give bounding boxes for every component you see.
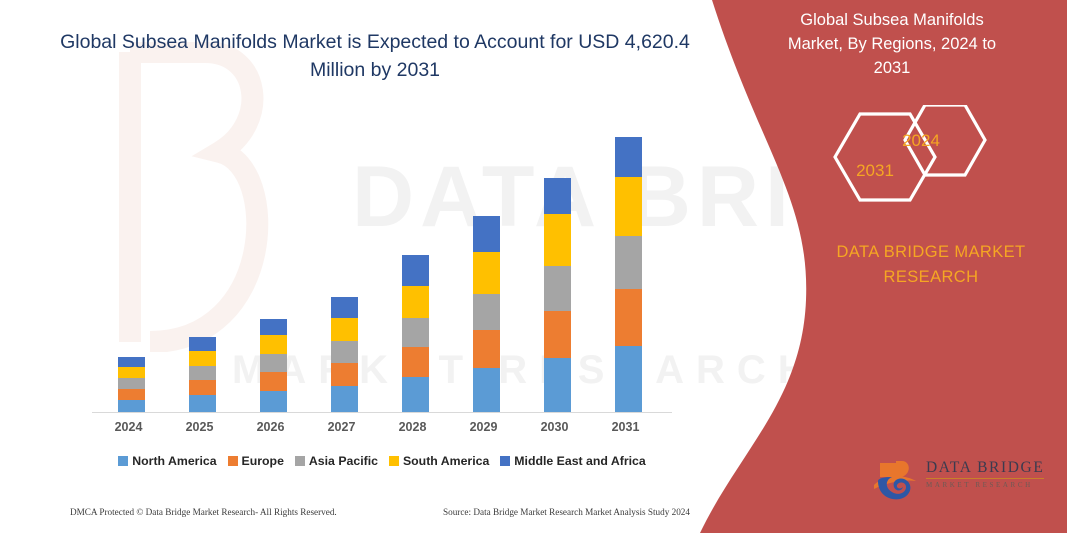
- bar-2029[interactable]: [473, 216, 500, 413]
- company-logo: DATA BRIDGE MARKET RESEARCH: [872, 455, 1052, 507]
- footer: DMCA Protected © Data Bridge Market Rese…: [70, 507, 690, 517]
- legend-label: Europe: [242, 454, 284, 468]
- bar-2031[interactable]: [615, 137, 642, 413]
- bar-segment[interactable]: [473, 330, 500, 368]
- brand-line-1: DATA BRIDGE MARKET: [800, 240, 1062, 265]
- x-axis-label-2025: 2025: [170, 420, 230, 434]
- footer-source: Source: Data Bridge Market Research Mark…: [443, 507, 690, 517]
- logo-mark-icon: [872, 455, 922, 503]
- bar-2025[interactable]: [189, 337, 216, 413]
- x-axis-label-2029: 2029: [454, 420, 514, 434]
- logo-divider: [926, 478, 1044, 479]
- bar-segment[interactable]: [402, 255, 429, 286]
- chart-legend: North AmericaEuropeAsia PacificSouth Ame…: [92, 454, 672, 468]
- bar-segment[interactable]: [473, 252, 500, 294]
- hexagon-end-year-label: 2031: [832, 161, 918, 181]
- bar-segment[interactable]: [118, 389, 145, 400]
- logo-text: DATA BRIDGE MARKET RESEARCH: [926, 459, 1052, 489]
- bar-segment[interactable]: [118, 367, 145, 378]
- x-axis-label-2028: 2028: [383, 420, 443, 434]
- panel-title: Global Subsea Manifolds Market, By Regio…: [772, 8, 1012, 80]
- legend-label: Asia Pacific: [309, 454, 378, 468]
- x-axis-labels: 20242025202620272028202920302031: [92, 420, 672, 444]
- legend-swatch-icon: [500, 456, 510, 466]
- legend-swatch-icon: [389, 456, 399, 466]
- bar-segment[interactable]: [331, 341, 358, 363]
- bar-segment[interactable]: [118, 357, 145, 367]
- bar-segment[interactable]: [473, 368, 500, 413]
- logo-main-text: DATA BRIDGE: [926, 459, 1052, 477]
- bar-segment[interactable]: [615, 137, 642, 177]
- x-axis-label-2026: 2026: [241, 420, 301, 434]
- bar-segment[interactable]: [402, 286, 429, 318]
- bar-segment[interactable]: [402, 347, 429, 377]
- bar-segment[interactable]: [402, 377, 429, 413]
- bar-segment[interactable]: [260, 335, 287, 354]
- bar-segment[interactable]: [331, 363, 358, 386]
- bar-segment[interactable]: [473, 216, 500, 252]
- bar-segment[interactable]: [615, 346, 642, 413]
- legend-item-asia-pacific[interactable]: Asia Pacific: [295, 454, 378, 468]
- footer-copyright: DMCA Protected © Data Bridge Market Rese…: [70, 507, 337, 517]
- bar-segment[interactable]: [331, 297, 358, 318]
- bar-segment[interactable]: [544, 266, 571, 311]
- bar-segment[interactable]: [615, 177, 642, 236]
- bar-segment[interactable]: [402, 318, 429, 347]
- bar-segment[interactable]: [615, 236, 642, 289]
- bar-segment[interactable]: [189, 337, 216, 351]
- bar-2030[interactable]: [544, 178, 571, 413]
- legend-swatch-icon: [228, 456, 238, 466]
- bar-segment[interactable]: [189, 351, 216, 366]
- bar-segment[interactable]: [544, 358, 571, 413]
- bar-segment[interactable]: [260, 372, 287, 391]
- legend-item-north-america[interactable]: North America: [118, 454, 216, 468]
- bar-segment[interactable]: [189, 366, 216, 380]
- bar-2024[interactable]: [118, 357, 145, 413]
- bar-segment[interactable]: [260, 354, 287, 372]
- legend-swatch-icon: [118, 456, 128, 466]
- x-axis-label-2031: 2031: [596, 420, 656, 434]
- x-axis-label-2030: 2030: [525, 420, 585, 434]
- bar-2026[interactable]: [260, 319, 287, 413]
- legend-label: South America: [403, 454, 489, 468]
- hexagon-start-year-label: 2024: [878, 131, 964, 151]
- chart-title: Global Subsea Manifolds Market is Expect…: [60, 28, 690, 84]
- brand-name: DATA BRIDGE MARKET RESEARCH: [800, 240, 1062, 290]
- legend-item-europe[interactable]: Europe: [228, 454, 284, 468]
- bar-segment[interactable]: [118, 378, 145, 389]
- bar-segment[interactable]: [189, 395, 216, 413]
- legend-item-south-america[interactable]: South America: [389, 454, 489, 468]
- bar-segment[interactable]: [544, 214, 571, 266]
- bar-segment[interactable]: [331, 318, 358, 341]
- bar-segment[interactable]: [544, 178, 571, 214]
- hexagon-end-year: [835, 114, 935, 200]
- bar-segment[interactable]: [544, 311, 571, 358]
- hexagon-badges: [820, 105, 1020, 210]
- legend-label: North America: [132, 454, 216, 468]
- brand-line-2: RESEARCH: [800, 265, 1062, 290]
- legend-swatch-icon: [295, 456, 305, 466]
- legend-label: Middle East and Africa: [514, 454, 645, 468]
- bar-segment[interactable]: [615, 289, 642, 346]
- logo-sub-text: MARKET RESEARCH: [926, 481, 1052, 489]
- bar-segment[interactable]: [331, 386, 358, 413]
- bar-segment[interactable]: [260, 319, 287, 335]
- x-axis-label-2027: 2027: [312, 420, 372, 434]
- bar-2027[interactable]: [331, 297, 358, 413]
- bar-segment[interactable]: [473, 294, 500, 330]
- legend-item-middle-east-and-africa[interactable]: Middle East and Africa: [500, 454, 645, 468]
- stacked-bar-plot: [92, 120, 672, 413]
- x-axis-label-2024: 2024: [99, 420, 159, 434]
- bar-2028[interactable]: [402, 255, 429, 413]
- bar-segment[interactable]: [260, 391, 287, 413]
- infographic-canvas: DATA BRIDGE MARKET RESEARCH Global Subse…: [0, 0, 1067, 533]
- x-axis-line: [92, 412, 672, 413]
- bar-segment[interactable]: [189, 380, 216, 395]
